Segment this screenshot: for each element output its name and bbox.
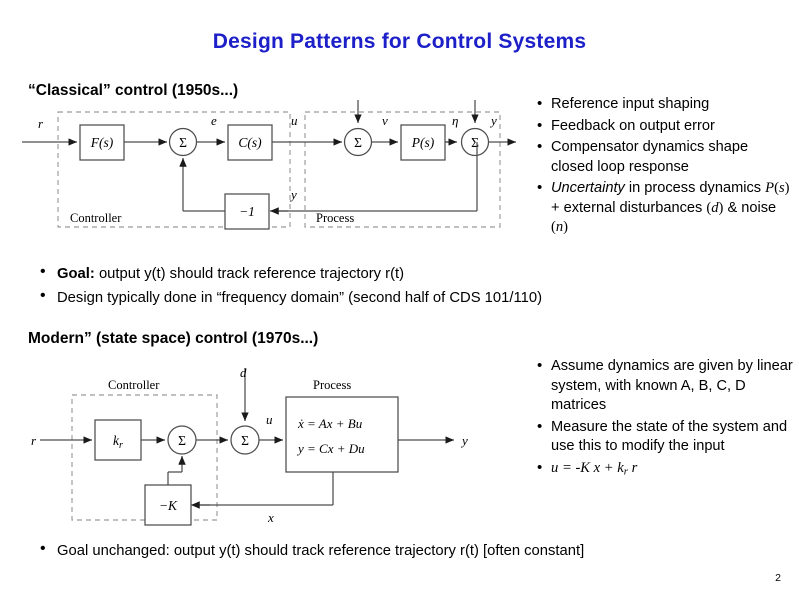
block-P-s-label: P(s) [411,135,435,150]
signal-label-r: r [38,116,44,131]
bullet-glyph: • [40,286,46,306]
signal-label-y-out: y [489,113,497,128]
process-equation-1: ẋ = Ax + Bu [297,416,363,431]
sum-junction-1-label: Σ [179,135,187,150]
block-F-s-label: F(s) [90,135,114,150]
slide-canvas: Design Patterns for Control Systems “Cla… [0,0,799,599]
list-item-label-control-law: u = -K x + kr r [551,460,637,476]
bullet-glyph: • [40,262,46,282]
signal-label-n: n [470,98,477,99]
goal-unchanged-bullet: • Goal unchanged: output y(t) should tra… [40,541,757,561]
list-item: • Reference input shaping [536,95,794,115]
signal-label-u-2: u [266,412,273,427]
classical-control-block-diagram: F(s) Σ C(s) Σ P(s) Σ [20,98,520,248]
bullet-glyph: • [537,116,542,136]
design-text: Design typically done in “frequency doma… [57,290,542,306]
signal-label-y-2: y [460,433,468,448]
list-item: • Uncertainty in process dynamics P(s) +… [536,179,794,238]
bullet-glyph: • [537,458,542,478]
signal-label-y-fb: y [289,187,297,202]
goal-bullet: • Goal: output y(t) should track referen… [40,264,597,284]
signal-label-e: e [211,113,217,128]
list-item-label: Measure the state of the system and use … [551,419,787,455]
bullet-glyph: • [40,539,46,559]
list-item: • Compensator dynamics shape closed loop… [536,138,794,177]
list-item: • Assume dynamics are given by linear sy… [536,357,794,416]
signal-label-eta: η [452,113,458,128]
page-number: 2 [775,572,781,584]
group-label-controller-2: Controller [108,378,160,392]
bullet-glyph: • [537,356,542,376]
bullet-glyph: • [537,417,542,437]
list-item-label: Compensator dynamics shape closed loop r… [551,139,748,175]
list-item-label: Assume dynamics are given by linear syst… [551,358,793,413]
goal-unchanged-text: Goal unchanged: output y(t) should track… [57,543,584,559]
section-heading-modern: Modern” (state space) control (1970s...) [28,330,318,348]
sum-junction-3-label: Σ [471,135,479,150]
sum-junction-disturbance-label: Σ [241,433,249,448]
list-item: • Measure the state of the system and us… [536,418,794,457]
signal-label-u: u [291,113,298,128]
goal-label: Goal: [57,266,95,282]
signal-label-r-2: r [31,433,37,448]
goal-text: output y(t) should track reference traje… [95,266,404,282]
process-equation-2: y = Cx + Du [296,441,365,456]
list-item: • u = -K x + kr r [536,459,794,482]
bullet-glyph: • [537,137,542,157]
modern-state-space-block-diagram: Controller Process kr Σ Σ ẋ = Ax + Bu y … [30,362,510,527]
block-minus-K-label: −K [159,498,178,513]
group-label-controller: Controller [70,211,122,225]
group-label-process: Process [316,211,354,225]
modern-bullet-list: • Assume dynamics are given by linear sy… [536,357,794,483]
block-minus-one-label: −1 [239,204,255,219]
signal-label-d-2: d [240,365,247,380]
classical-bullet-list: • Reference input shaping • Feedback on … [536,95,794,240]
sum-junction-2-label: Σ [354,135,362,150]
page-title: Design Patterns for Control Systems [0,30,799,54]
group-label-process-2: Process [313,378,351,392]
bullet-glyph: • [537,178,542,198]
signal-label-d: d [353,98,360,99]
signal-label-x-2: x [267,510,274,525]
list-item-label-uncertainty: Uncertainty in process dynamics P(s) + e… [551,180,790,235]
list-item-label: Reference input shaping [551,96,709,112]
list-item-label: Feedback on output error [551,118,715,134]
sum-junction-controller-label: Σ [178,433,186,448]
bullet-glyph: • [537,94,542,114]
design-bullet: • Design typically done in “frequency do… [40,288,617,308]
block-C-s-label: C(s) [238,135,262,150]
block-process-equations [286,397,398,472]
signal-label-nu: ν [382,113,388,128]
list-item: • Feedback on output error [536,117,794,137]
